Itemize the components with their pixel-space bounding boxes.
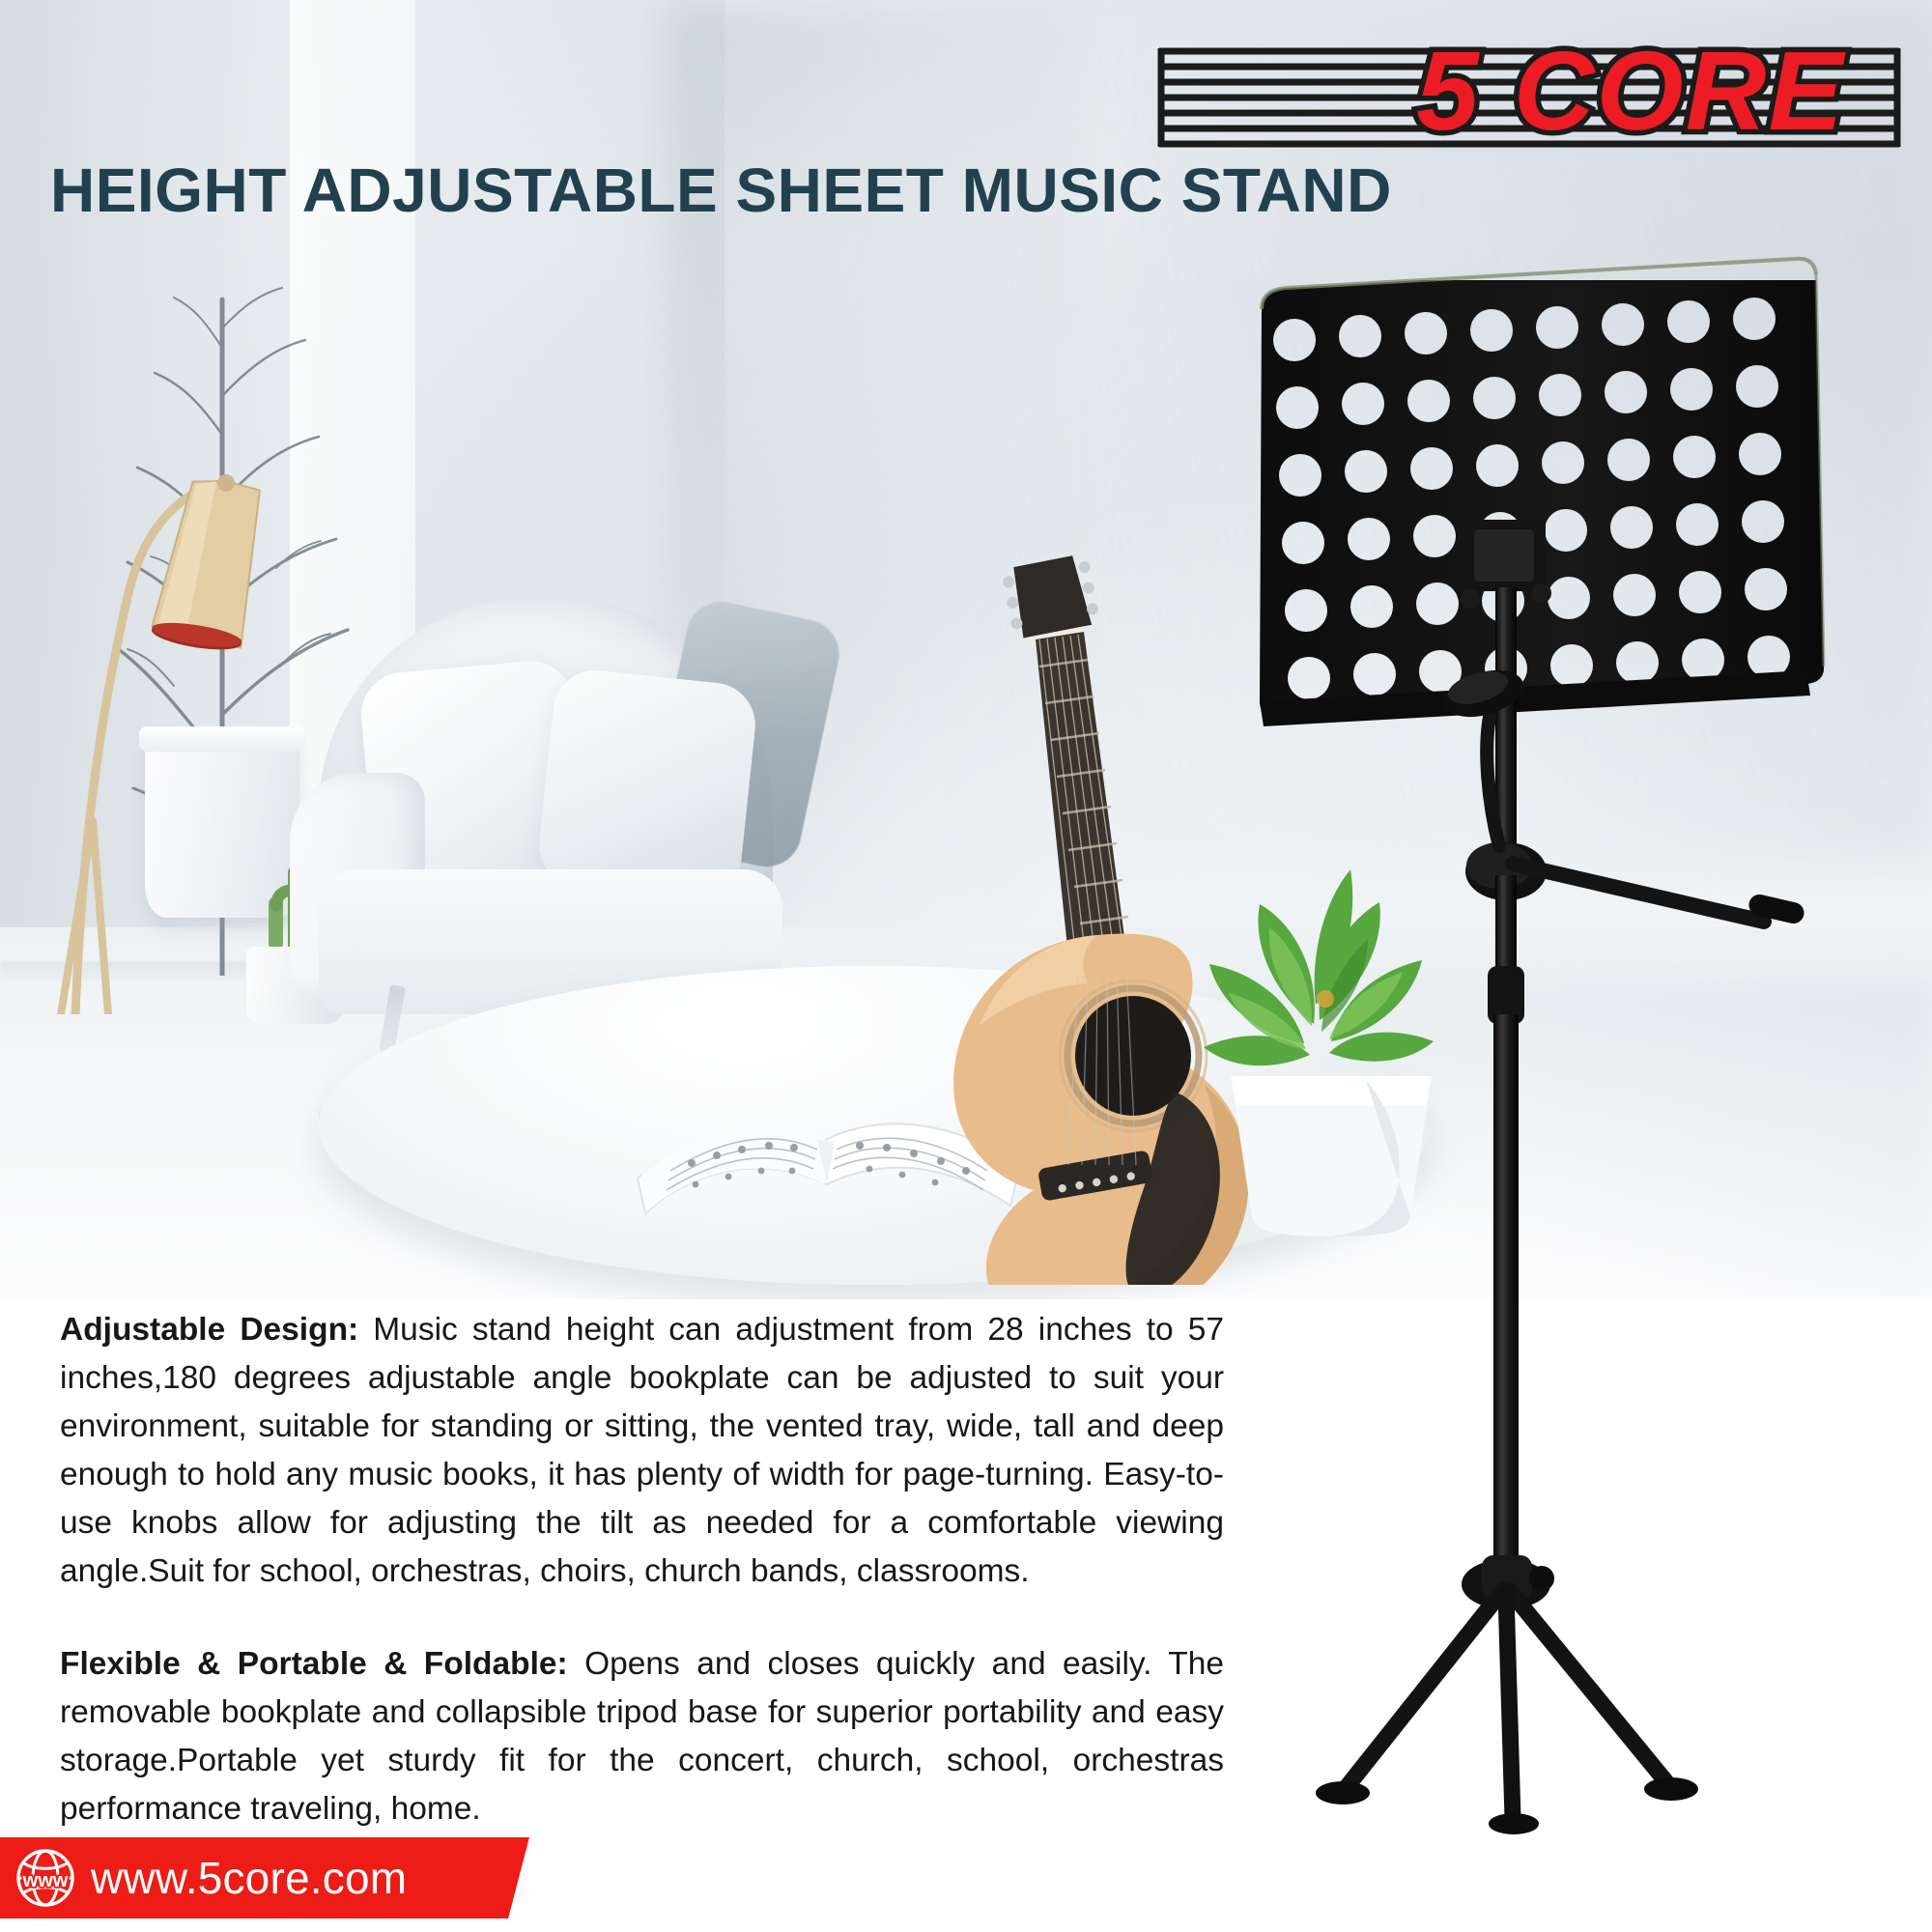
feature-adjustable-design: Adjustable Design: Music stand height ca…: [60, 1306, 1224, 1596]
product-infographic: 5 CORE HEIGHT ADJUSTABLE SHEET MUSIC STA…: [0, 0, 1932, 1932]
logo-wordmark: 5 CORE: [1416, 28, 1847, 151]
feature-heading: Flexible & Portable & Foldable:: [60, 1646, 568, 1682]
website-banner[interactable]: www www.5core.com: [0, 1837, 529, 1918]
feature-flexible-portable-foldable: Flexible & Portable & Foldable: Opens an…: [60, 1640, 1224, 1833]
tripod-base: [1316, 1590, 1698, 1834]
brand-logo: 5 CORE: [1153, 21, 1905, 151]
page-title: HEIGHT ADJUSTABLE SHEET MUSIC STAND: [50, 155, 1392, 226]
feature-copy: Adjustable Design: Music stand height ca…: [60, 1306, 1224, 1833]
www-globe-icon: www: [15, 1848, 75, 1908]
potted-plant: [1159, 802, 1478, 1236]
svg-text:www: www: [22, 1870, 69, 1891]
website-url[interactable]: www.5core.com: [91, 1852, 407, 1904]
feature-body: Music stand height can adjustment from 2…: [60, 1312, 1224, 1589]
feature-heading: Adjustable Design:: [60, 1312, 358, 1348]
throw-pillow-right: [535, 667, 759, 904]
